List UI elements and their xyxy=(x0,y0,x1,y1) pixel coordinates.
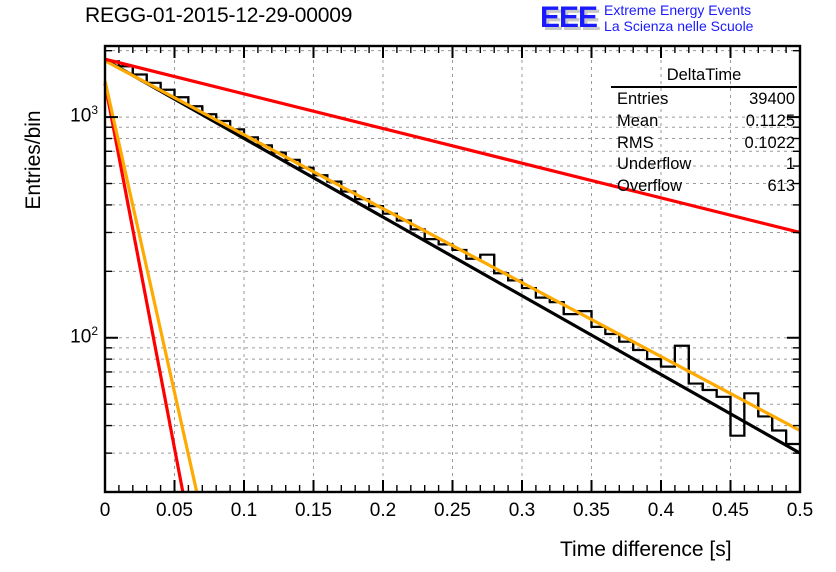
x-tick-label: 0.4 xyxy=(621,500,701,522)
stats-key: RMS xyxy=(617,133,654,155)
stats-box: DeltaTime Entries39400Mean0.1125RMS0.102… xyxy=(611,66,797,198)
x-tick-label: 0.25 xyxy=(413,500,493,522)
fit-line xyxy=(105,83,183,492)
stats-row: Underflow1 xyxy=(611,154,797,176)
stats-rows: Entries39400Mean0.1125RMS0.1022Underflow… xyxy=(611,89,797,198)
x-tick-label: 0.35 xyxy=(552,500,632,522)
x-tick-label: 0.3 xyxy=(482,500,562,522)
fit-line xyxy=(105,81,197,492)
stats-key: Mean xyxy=(617,111,658,133)
stats-row: Entries39400 xyxy=(611,89,797,111)
x-tick-label: 0.05 xyxy=(135,500,215,522)
stats-row: RMS0.1022 xyxy=(611,133,797,155)
y-tick-label: 102 xyxy=(30,324,98,348)
stats-row: Overflow613 xyxy=(611,176,797,198)
x-tick-label: 0.5 xyxy=(760,500,836,522)
stats-value: 39400 xyxy=(749,89,795,111)
x-tick-label: 0.15 xyxy=(274,500,354,522)
stats-value: 613 xyxy=(767,176,795,198)
x-tick-label: 0 xyxy=(65,500,145,522)
stats-value: 1 xyxy=(786,154,795,176)
stats-row: Mean0.1125 xyxy=(611,111,797,133)
stats-title: DeltaTime xyxy=(611,66,797,88)
x-tick-label: 0.45 xyxy=(691,500,771,522)
stats-key: Entries xyxy=(617,89,668,111)
stats-value: 0.1125 xyxy=(746,111,795,133)
stats-value: 0.1022 xyxy=(745,133,795,155)
x-tick-label: 0.2 xyxy=(343,500,423,522)
stats-key: Overflow xyxy=(617,176,682,198)
x-tick-label: 0.1 xyxy=(204,500,284,522)
y-tick-label: 103 xyxy=(30,103,98,127)
stats-key: Underflow xyxy=(617,154,691,176)
